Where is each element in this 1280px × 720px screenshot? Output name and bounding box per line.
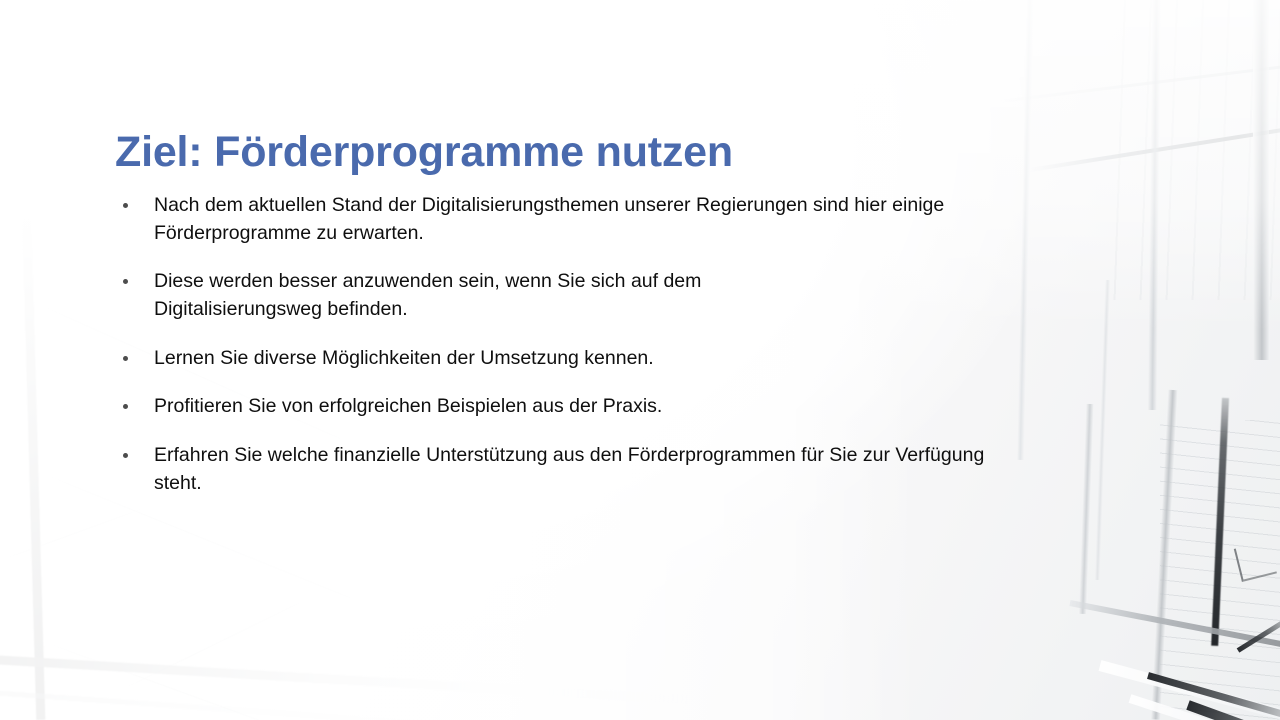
bullet-text: Nach dem aktuellen Stand der Digitalisie…	[154, 192, 1026, 247]
bullet-text: Profitieren Sie von erfolgreichen Beispi…	[154, 393, 1034, 421]
bullet-dot-icon	[123, 356, 128, 361]
slide-title: Ziel: Förderprogramme nutzen	[115, 129, 1115, 176]
list-item: Diese werden besser anzuwenden sein, wen…	[118, 268, 1048, 323]
slide-content: Ziel: Förderprogramme nutzen Nach dem ak…	[0, 0, 1280, 720]
list-item: Lernen Sie diverse Möglichkeiten der Ums…	[118, 345, 1048, 373]
bullet-text: Lernen Sie diverse Möglichkeiten der Ums…	[154, 345, 1034, 373]
presentation-slide: Ziel: Förderprogramme nutzen Nach dem ak…	[0, 0, 1280, 720]
bullet-list: Nach dem aktuellen Stand der Digitalisie…	[118, 192, 1048, 498]
bullet-dot-icon	[123, 203, 128, 208]
list-item: Profitieren Sie von erfolgreichen Beispi…	[118, 393, 1048, 421]
bullet-dot-icon	[123, 279, 128, 284]
bullet-text: Diese werden besser anzuwenden sein, wen…	[154, 268, 854, 323]
bullet-dot-icon	[123, 453, 128, 458]
bullet-text: Erfahren Sie welche finanzielle Unterstü…	[154, 442, 1004, 497]
bullet-dot-icon	[123, 404, 128, 409]
list-item: Nach dem aktuellen Stand der Digitalisie…	[118, 192, 1048, 247]
list-item: Erfahren Sie welche finanzielle Unterstü…	[118, 442, 1048, 497]
